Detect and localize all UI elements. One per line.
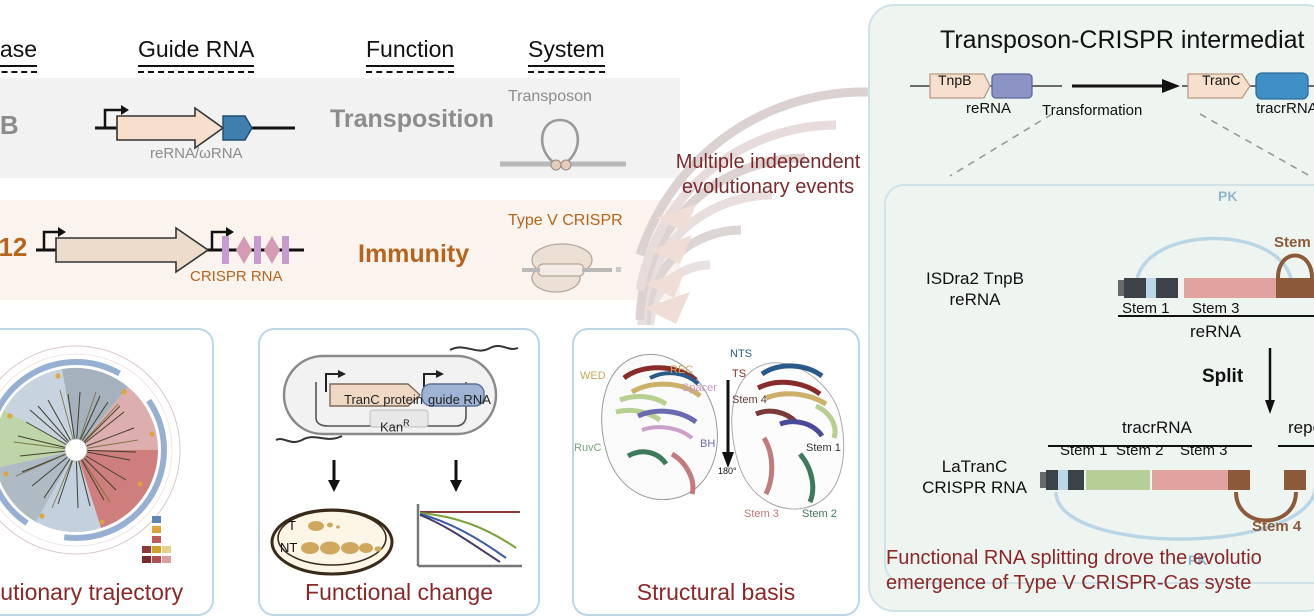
structure-right	[732, 363, 844, 509]
rotation-label: 180°	[718, 466, 737, 476]
panel-title-structural-basis: Structural basis	[574, 579, 858, 606]
structure-label-nts: NTS	[730, 348, 752, 360]
agar-plate-icon	[268, 498, 398, 578]
stem4-label-top: Stem 4	[1274, 234, 1314, 251]
panel-title-functional-change: Functional change	[260, 579, 538, 606]
stem1-label-top: Stem 1	[1122, 300, 1170, 317]
split-label: Split	[1202, 366, 1243, 388]
bar-caption-tracrrna: tracrRNA	[1122, 418, 1192, 438]
rna-name-latranc: LaTranC CRISPR RNA	[892, 456, 1057, 499]
stem3-label-top: Stem 3	[1192, 300, 1240, 317]
header-dash	[138, 71, 254, 73]
plasmid-label-kan-resistance: KanR	[380, 418, 410, 434]
header-dash	[0, 71, 37, 73]
function-label-transposition: Transposition	[330, 105, 494, 134]
right-panel-caption: Functional RNA splitting drove the evolu…	[886, 546, 1314, 596]
panel-structural-basis: WED REC Spacer RuvC BH NTS TS Stem 4 Ste…	[572, 328, 860, 616]
panel-title-evolutionary-trajectory: volutionary trajectory	[0, 579, 212, 606]
caption-line2: emergence of Type V CRISPR-Cas syste	[886, 571, 1314, 596]
circular-phylogenetic-tree	[0, 338, 196, 568]
downstream-arrows	[260, 458, 538, 498]
function-label-immunity: Immunity	[358, 240, 469, 269]
stem2-label-bottom: Stem 2	[1116, 442, 1164, 459]
gene-label-tranc: TranC	[1202, 72, 1240, 88]
arc-caption: Multiple independent evolutionary events	[648, 150, 888, 200]
structure-label-stem2: Stem 2	[802, 508, 837, 520]
structure-label-bh: BH	[700, 438, 715, 450]
rna-name-isdra2-tnpb: ISDra2 TnpB reRNA	[900, 268, 1050, 311]
guide-rna-label-crispr-rna: CRISPR RNA	[190, 268, 283, 285]
system-label-transposon: Transposon	[508, 88, 592, 106]
arc-caption-line2: evolutionary events	[648, 175, 888, 200]
caption-line1: Functional RNA splitting drove the evolu…	[886, 546, 1314, 571]
guide-rna-label-rerna: reRNA/ωRNA	[150, 145, 243, 162]
right-panel-title: Transposon-CRISPR intermediat	[940, 26, 1305, 55]
tnpb-gene-diagram	[95, 100, 315, 150]
panel-functional-change: TranC protein guide RNA KanR T NT Functi…	[258, 328, 540, 616]
split-arrow	[1250, 348, 1290, 420]
tree-legend	[142, 516, 171, 563]
plate-label-nontargeting: NT	[280, 540, 297, 555]
dashed-connectors	[910, 110, 1314, 180]
header-dash	[366, 71, 454, 73]
plate-label-targeting: T	[288, 518, 296, 533]
structure-label-rec: REC	[670, 364, 693, 376]
structure-label-spacer: Spacer	[682, 382, 717, 394]
panel-evolutionary-trajectory: volutionary trajectory	[0, 328, 214, 616]
stem4-label-bottom: Stem 4	[1252, 518, 1301, 535]
survival-curve-chart	[410, 500, 530, 578]
structure-label-ruvc: RuvC	[574, 442, 602, 454]
structure-left	[602, 354, 718, 499]
stem3-label-bottom: Stem 3	[1180, 442, 1228, 459]
bar-caption-repeat: repe	[1288, 418, 1314, 438]
row-label-cas12: s12	[0, 232, 27, 263]
arc-caption-line1: Multiple independent	[648, 150, 888, 175]
structure-label-ts: TS	[732, 368, 746, 380]
crispr-effector-icon	[520, 238, 650, 298]
header-dash	[528, 71, 605, 73]
column-header-guide-rna: Guide RNA	[138, 36, 254, 73]
system-label-type-v-crispr: Type V CRISPR	[508, 212, 623, 230]
bar-caption-rerna: reRNA	[1190, 322, 1241, 342]
structure-label-wed: WED	[580, 370, 606, 382]
cas12-gene-diagram	[36, 222, 326, 274]
column-header-function: Function	[366, 36, 454, 73]
structure-label-stem1: Stem 1	[806, 442, 841, 454]
structure-label-stem3: Stem 3	[744, 508, 779, 520]
pk-label-top: PK	[1218, 188, 1237, 204]
stem1-label-bottom: Stem 1	[1060, 442, 1108, 459]
row-label-tnpb: pB	[0, 110, 19, 141]
column-header-nuclease: lease	[0, 36, 37, 73]
right-panel-transposon-crispr: Transposon-CRISPR intermediat TnpB reRNA…	[868, 4, 1314, 612]
transposon-loop-icon	[498, 112, 648, 174]
column-header-system: System	[528, 36, 605, 73]
plasmid-label-tranc-protein: TranC protein	[344, 392, 423, 407]
structure-label-stem4: Stem 4	[732, 394, 767, 406]
gene-label-tnpb: TnpB	[938, 72, 971, 88]
plasmid-label-guide-rna: guide RNA	[428, 392, 491, 407]
